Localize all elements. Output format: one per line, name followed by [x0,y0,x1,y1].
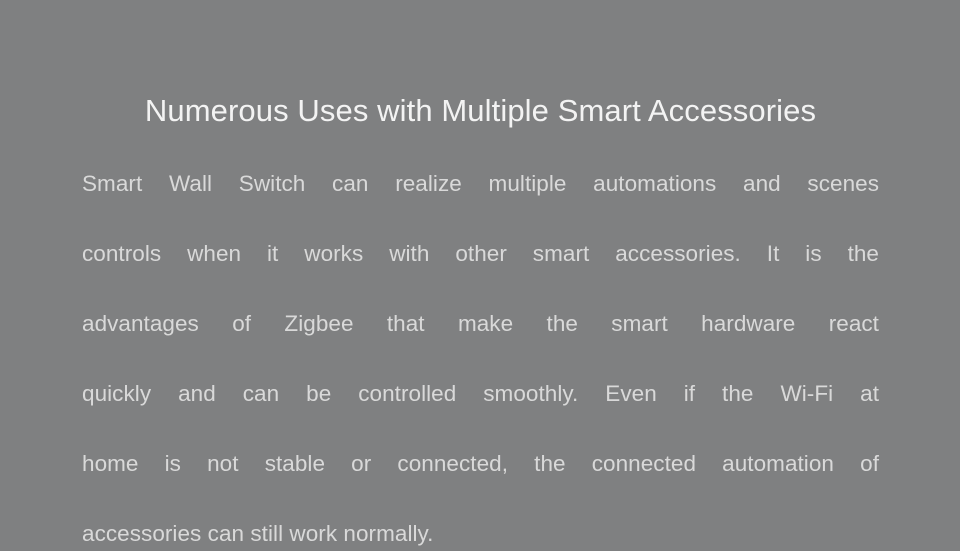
body-line: controls when it works with other smart … [82,236,879,306]
banner-content: Numerous Uses with Multiple Smart Access… [82,0,879,448]
body-line: home is not stable or connected, the con… [82,446,879,516]
body-line: accessories can still work normally. [82,516,879,551]
body-line: Smart Wall Switch can realize multiple a… [82,166,879,236]
body-paragraph: Smart Wall Switch can realize multiple a… [82,166,879,551]
page-title: Numerous Uses with Multiple Smart Access… [82,91,879,131]
body-line: quickly and can be controlled smoothly. … [82,376,879,446]
feature-banner: Numerous Uses with Multiple Smart Access… [0,0,960,448]
body-line: advantages of Zigbee that make the smart… [82,306,879,376]
